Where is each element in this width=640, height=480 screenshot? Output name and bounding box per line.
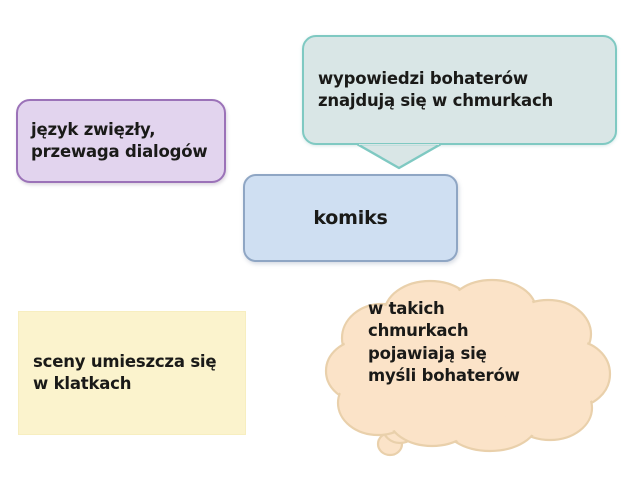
- node-wypowiedzi-bohaterow[interactable]: wypowiedzi bohaterów znajdują się w chmu…: [302, 35, 617, 145]
- node-komiks-label: komiks: [313, 207, 387, 229]
- node-jezyk-zwiezly[interactable]: język zwięzły, przewaga dialogów: [16, 99, 226, 183]
- node-mysli-label: w takich chmurkach pojawiają się myśli b…: [368, 298, 583, 388]
- node-wypowiedzi-label: wypowiedzi bohaterów znajdują się w chmu…: [318, 68, 553, 112]
- node-mysli-bohaterow[interactable]: w takich chmurkach pojawiają się myśli b…: [322, 276, 612, 466]
- node-sceny-umieszcza[interactable]: sceny umieszcza się w klatkach: [18, 311, 246, 435]
- speech-bubble-tail: [357, 144, 441, 170]
- node-sceny-label: sceny umieszcza się w klatkach: [33, 351, 216, 395]
- node-jezyk-label: język zwięzły, przewaga dialogów: [31, 119, 207, 163]
- node-komiks-center[interactable]: komiks: [243, 174, 458, 262]
- mind-map-canvas: język zwięzły, przewaga dialogów wypowie…: [0, 0, 640, 480]
